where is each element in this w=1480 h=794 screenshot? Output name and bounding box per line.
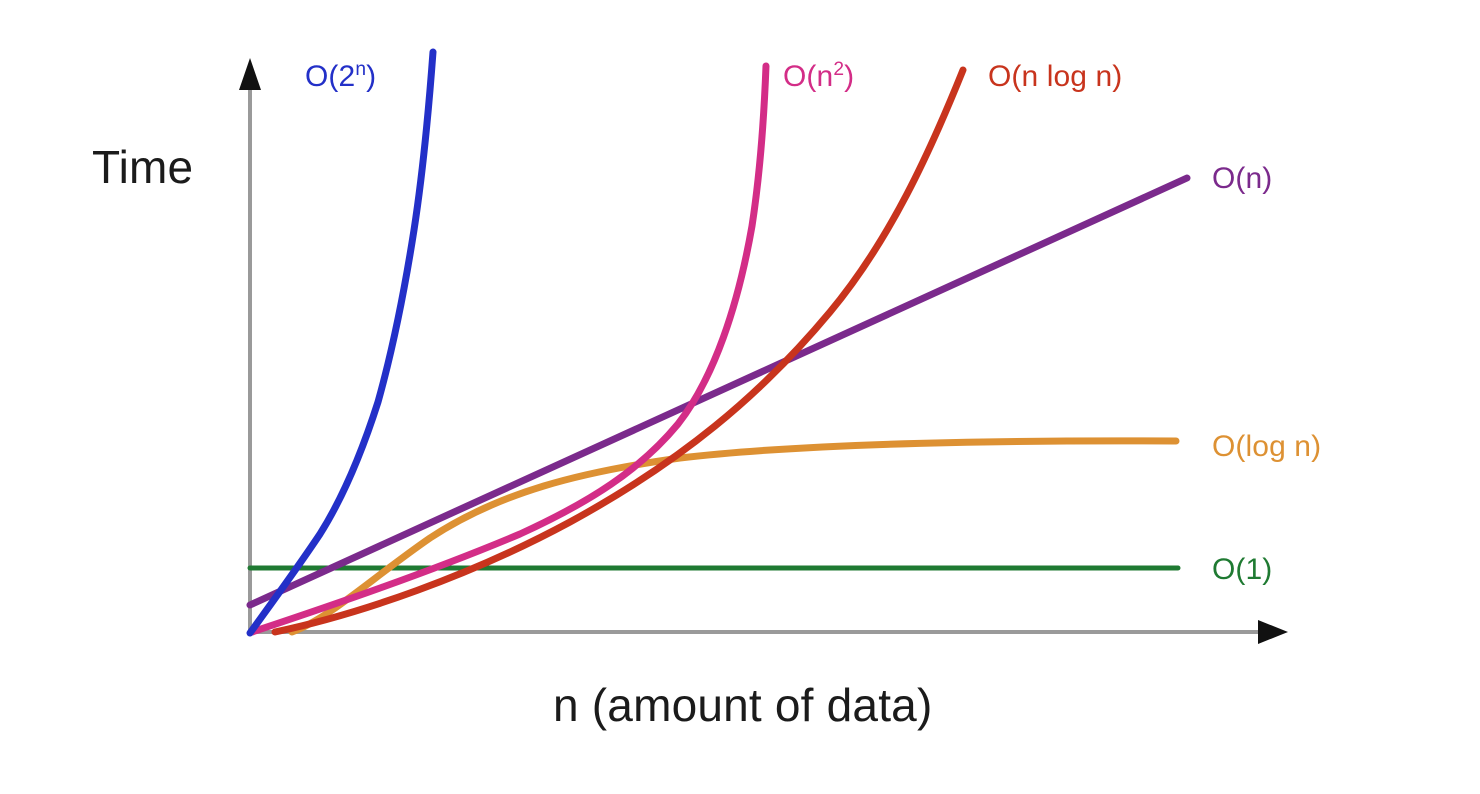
curve-label-quadratic-tail: )	[844, 60, 854, 93]
curve-label-logarithmic: O(log n)	[1212, 430, 1321, 464]
y-axis-title: Time	[92, 140, 193, 194]
x-axis-title: n (amount of data)	[553, 678, 932, 732]
curve-label-nlogn: O(n log n)	[988, 60, 1122, 94]
curve-label-exponential: O(2n)	[305, 60, 376, 94]
curve-label-exponential-exponent: n	[355, 59, 366, 80]
y-axis-arrow-icon	[239, 58, 261, 90]
curve-exponential	[250, 52, 433, 633]
x-axis-arrow-icon	[1258, 620, 1288, 644]
curve-label-linear: O(n)	[1212, 162, 1272, 196]
curve-label-quadratic: O(n2)	[783, 60, 854, 94]
curve-quadratic	[252, 66, 766, 632]
curve-label-exponential-tail: )	[366, 60, 376, 93]
curve-logarithmic	[292, 441, 1176, 632]
curve-label-constant: O(1)	[1212, 553, 1272, 587]
chart-plot-area	[0, 0, 1480, 794]
curve-label-quadratic-exponent: 2	[833, 59, 844, 80]
curve-label-quadratic-text: O(n	[783, 60, 833, 93]
big-o-complexity-chart: Time n (amount of data) O(2n) O(n2) O(n …	[0, 0, 1480, 794]
curve-linear	[250, 178, 1187, 605]
curve-label-exponential-text: O(2	[305, 60, 355, 93]
